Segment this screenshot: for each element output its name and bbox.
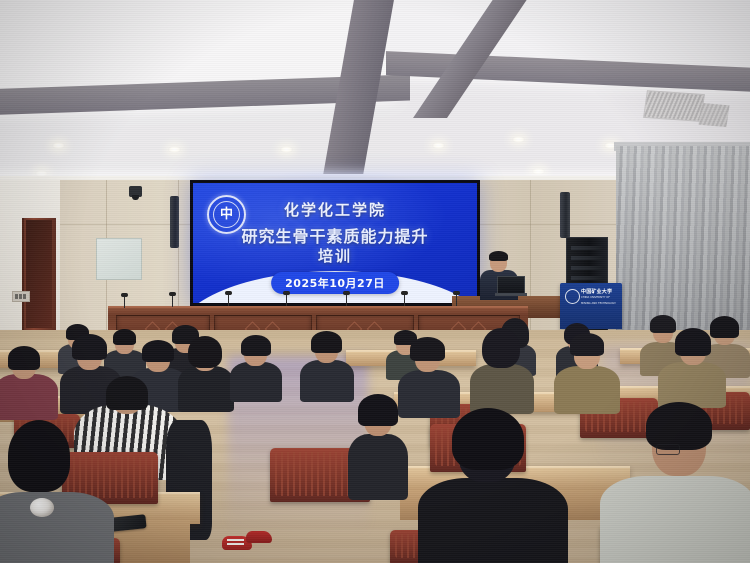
slide-date-badge: 2025年10月27日	[271, 272, 399, 294]
audience-shoe	[246, 531, 272, 543]
ceiling-downlight-icon	[52, 142, 65, 149]
hair-scrunchie	[30, 498, 54, 517]
wall-speaker	[170, 196, 179, 248]
desk-microphone	[286, 294, 287, 306]
air-vent-grille-icon	[698, 103, 729, 127]
slide-title-line2: 研究生骨干素质能力提升	[193, 223, 477, 247]
podium-institution-name: 中国矿业大学CHINA UNIVERSITY OF MINING AND TEC…	[581, 289, 619, 307]
wall-speaker	[560, 192, 570, 238]
light-switch[interactable]	[12, 291, 30, 302]
projection-screen: 中 化学化工学院 研究生骨干素质能力提升 培训 2025年10月27日	[190, 180, 480, 306]
lecture-hall-photo: 中 化学化工学院 研究生骨干素质能力提升 培训 2025年10月27日 中国矿业…	[0, 0, 750, 563]
audience-member	[418, 416, 568, 563]
wall-camera-icon	[129, 186, 142, 197]
audience-member	[658, 330, 726, 404]
audience-member	[178, 338, 234, 410]
desk-microphone	[404, 294, 405, 306]
desk-microphone	[228, 294, 229, 306]
air-vent-grille-icon	[643, 90, 705, 122]
desk-microphone	[346, 294, 347, 306]
audience-member	[600, 412, 750, 563]
audience-member	[0, 430, 114, 563]
podium-emblem-icon	[565, 289, 580, 304]
presenter-hair	[489, 251, 508, 261]
ceiling-downlight-icon	[512, 136, 525, 143]
door-leaf	[26, 220, 52, 328]
audience-member	[348, 400, 408, 496]
entrance-door[interactable]	[22, 218, 56, 330]
desk-microphone	[456, 294, 457, 306]
ceiling-downlight-icon	[168, 146, 181, 153]
podium-institution-subtitle: CHINA UNIVERSITY OF MINING AND TECHNOLOG…	[581, 295, 619, 307]
slide-title-line1: 化学化工学院	[193, 199, 477, 220]
ceiling-downlight-icon	[280, 146, 293, 153]
audience-member	[230, 336, 282, 398]
ceiling-downlight-icon	[532, 168, 545, 175]
slide-title-line3: 培训	[193, 245, 477, 266]
audience-member	[300, 332, 354, 396]
wall-panel	[96, 238, 142, 280]
desk-microphone	[124, 296, 125, 308]
audience-member	[554, 334, 620, 410]
slide-content: 中 化学化工学院 研究生骨干素质能力提升 培训 2025年10月27日	[193, 183, 477, 303]
audience-member	[0, 346, 58, 418]
eyeglasses-icon	[656, 444, 680, 455]
desk-microphone	[172, 295, 173, 307]
ceiling-downlight-icon	[432, 142, 445, 149]
audience-member	[470, 330, 534, 408]
laptop-computer	[497, 276, 525, 295]
speaking-podium: 中国矿业大学CHINA UNIVERSITY OF MINING AND TEC…	[560, 283, 622, 329]
